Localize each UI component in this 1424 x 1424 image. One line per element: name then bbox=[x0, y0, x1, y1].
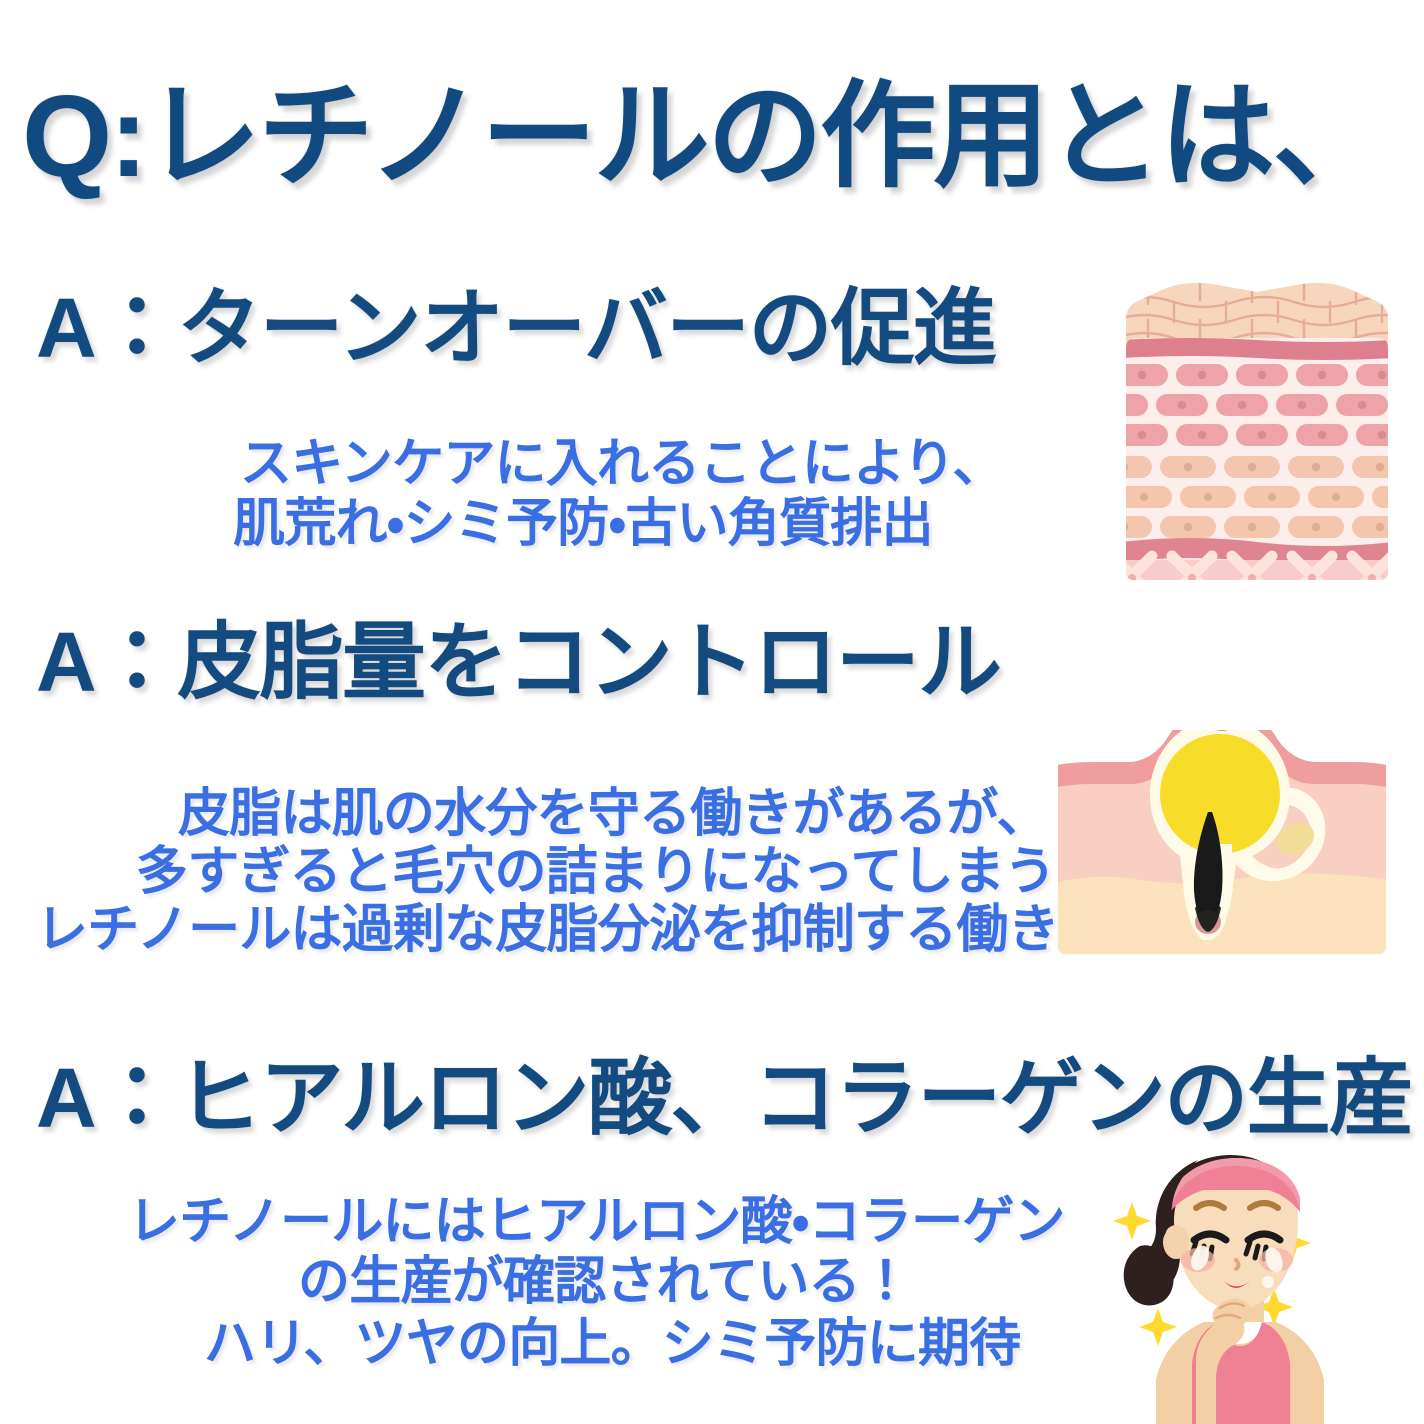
section-2-body-line-3: レチノールは過剰な皮脂分泌を抑制する働きがある bbox=[36, 904, 1213, 956]
page-title: Q:レチノールの作用とは、 bbox=[22, 78, 1386, 194]
happy-woman-illustration bbox=[1096, 1136, 1416, 1424]
section-1-body-line-1: スキンケアに入れることにより、 bbox=[240, 438, 1004, 490]
infographic-page: Q:レチノールの作用とは、 A：ターンオーバーの促進 スキンケアに入れることによ… bbox=[0, 0, 1424, 1424]
section-1-body-line-2: 肌荒れ・シミ予防・古い角質排出 bbox=[233, 498, 933, 550]
section-2-body-line-1: 皮脂は肌の水分を守る働きがあるが、 bbox=[178, 788, 1048, 840]
section-3-heading: A：ヒアルロン酸、コラーゲンの生産 bbox=[36, 1056, 1411, 1140]
clogged-pore-illustration bbox=[1052, 694, 1392, 956]
section-1-heading: A：ターンオーバーの促進 bbox=[36, 286, 995, 370]
skin-cross-section-illustration bbox=[1122, 276, 1392, 584]
section-2-body-line-2: 多すぎると毛穴の詰まりになってしまう.. bbox=[136, 846, 1083, 898]
section-3-body-line-3: ハリ、ツヤの向上。シミ予防に期待 bbox=[204, 1318, 1020, 1370]
section-3-body-line-2: の生産が確認されている！ bbox=[298, 1256, 911, 1308]
section-3-body-line-1: レチノールにはヒアルロン酸・コラーゲン bbox=[128, 1196, 1065, 1248]
section-2-heading: A：皮脂量をコントロール bbox=[36, 620, 1001, 704]
